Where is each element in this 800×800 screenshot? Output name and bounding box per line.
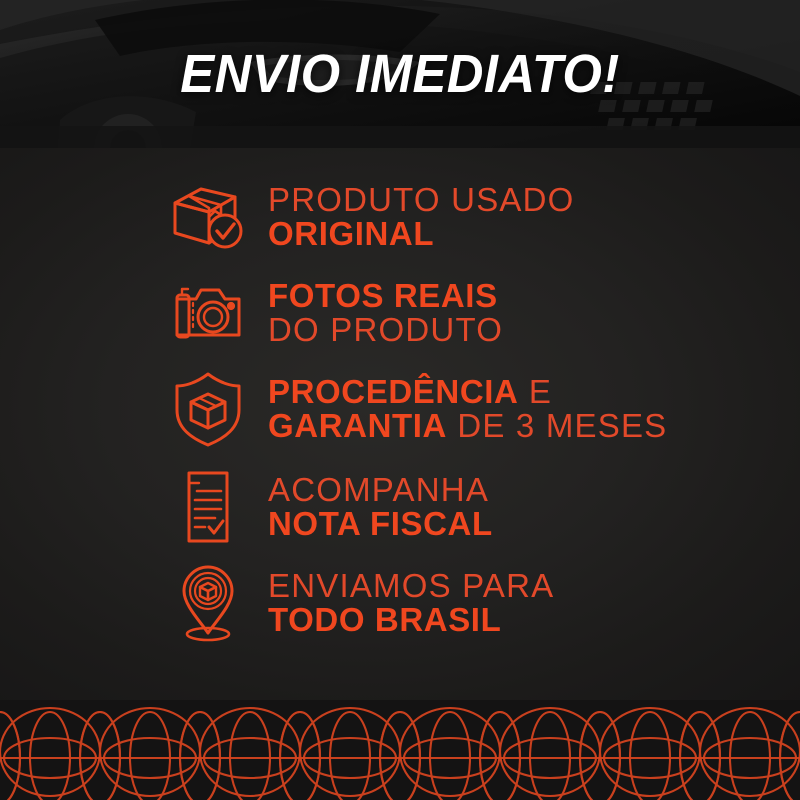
floral-lattice-ornament-icon bbox=[0, 700, 800, 800]
map-pin-box-icon bbox=[162, 560, 254, 646]
box-check-icon bbox=[162, 174, 254, 260]
feature-line-1: FOTOS REAIS bbox=[268, 279, 503, 313]
feature-text: PROCEDÊNCIA E GARANTIA DE 3 MESES bbox=[268, 375, 667, 442]
feature-item-fotos-reais: FOTOS REAIS DO PRODUTO bbox=[162, 270, 503, 356]
promo-banner: ENVIO IMEDIATO! PRODUTO USADO bbox=[0, 0, 800, 800]
feature-line-2: GARANTIA DE 3 MESES bbox=[268, 409, 667, 443]
feature-item-procedencia-garantia: PROCEDÊNCIA E GARANTIA DE 3 MESES bbox=[162, 366, 667, 452]
header-banner: ENVIO IMEDIATO! bbox=[0, 0, 800, 148]
invoice-document-icon bbox=[162, 464, 254, 550]
shield-box-icon bbox=[162, 366, 254, 452]
feature-line-2: ORIGINAL bbox=[268, 217, 575, 251]
feature-text: FOTOS REAIS DO PRODUTO bbox=[268, 279, 503, 346]
feature-item-todo-brasil: ENVIAMOS PARA TODO BRASIL bbox=[162, 560, 554, 646]
feature-text: PRODUTO USADO ORIGINAL bbox=[268, 183, 575, 250]
feature-line-1: ENVIAMOS PARA bbox=[268, 569, 554, 603]
feature-line-1: PRODUTO USADO bbox=[268, 183, 575, 217]
features-section: PRODUTO USADO ORIGINAL bbox=[0, 148, 800, 710]
feature-text: ACOMPANHA NOTA FISCAL bbox=[268, 473, 493, 540]
feature-line-1: PROCEDÊNCIA E bbox=[268, 375, 667, 409]
feature-line-2: NOTA FISCAL bbox=[268, 507, 493, 541]
feature-item-nota-fiscal: ACOMPANHA NOTA FISCAL bbox=[162, 464, 493, 550]
feature-text: ENVIAMOS PARA TODO BRASIL bbox=[268, 569, 554, 636]
feature-line-1: ACOMPANHA bbox=[268, 473, 493, 507]
feature-line-2: DO PRODUTO bbox=[268, 313, 503, 347]
feature-line-2: TODO BRASIL bbox=[268, 603, 554, 637]
footer-ornament-pattern bbox=[0, 700, 800, 800]
camera-icon bbox=[162, 270, 254, 356]
page-title: ENVIO IMEDIATO! bbox=[24, 0, 776, 148]
feature-item-produto-usado-original: PRODUTO USADO ORIGINAL bbox=[162, 174, 575, 260]
